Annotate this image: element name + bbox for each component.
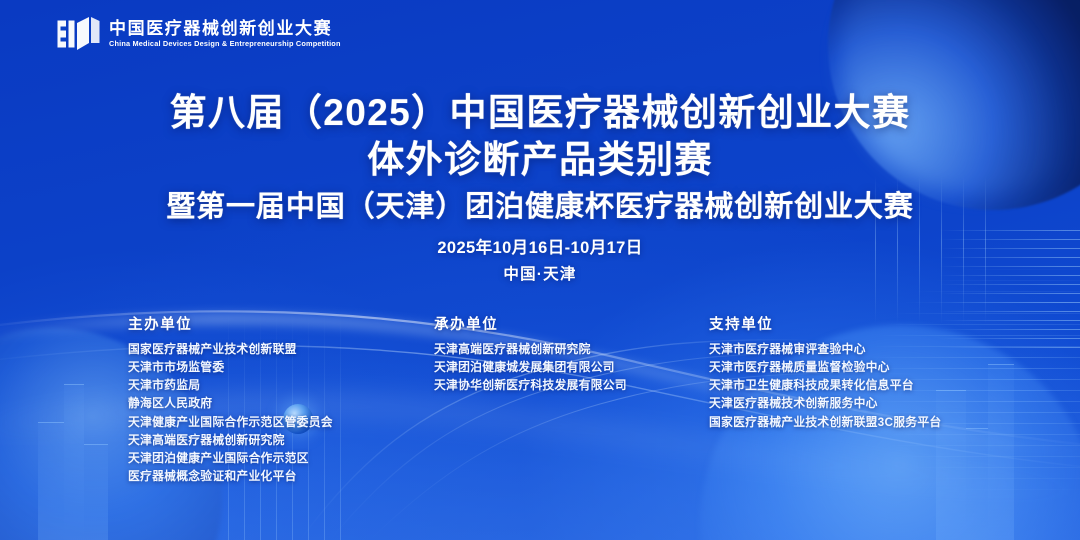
organizer-heading: 承办单位 (434, 316, 627, 335)
organizer-item: 天津团泊健康城发展集团有限公司 (434, 358, 627, 376)
organizer-item: 医疗器械概念验证和产业化平台 (128, 467, 333, 485)
organizer-item: 国家医疗器械产业技术创新联盟3C服务平台 (709, 413, 941, 431)
organizer-item: 天津市医疗器械审评查验中心 (709, 340, 941, 358)
organizer-item: 天津市药监局 (128, 376, 333, 394)
organizer-heading: 支持单位 (709, 316, 941, 335)
organizer-item: 静海区人民政府 (128, 394, 333, 412)
organizer-item: 天津市卫生健康科技成果转化信息平台 (709, 376, 941, 394)
title-line-category: 体外诊断产品类别赛 (0, 136, 1080, 183)
organizer-heading: 主办单位 (128, 316, 333, 335)
organizer-item: 天津高端医疗器械创新研究院 (128, 431, 333, 449)
open-book-logo-icon (56, 13, 100, 55)
organizer-item: 天津医疗器械技术创新服务中心 (709, 394, 941, 412)
organizer-item: 天津团泊健康产业国际合作示范区 (128, 449, 333, 467)
organizer-column-supporter: 支持单位 天津市医疗器械审评查验中心 天津市医疗器械质量监督检验中心 天津市卫生… (709, 316, 941, 431)
event-date: 2025年10月16日-10月17日 (0, 236, 1080, 261)
organizer-item: 天津协华创新医疗科技发展有限公司 (434, 376, 627, 394)
organizer-column-host: 主办单位 国家医疗器械产业技术创新联盟 天津市市场监管委 天津市药监局 静海区人… (128, 316, 333, 485)
logo-title-chinese: 中国医疗器械创新创业大赛 (109, 20, 336, 38)
organizer-column-undertaker: 承办单位 天津高端医疗器械创新研究院 天津团泊健康城发展集团有限公司 天津协华创… (434, 316, 627, 394)
organizers-section: 主办单位 国家医疗器械产业技术创新联盟 天津市市场监管委 天津市药监局 静海区人… (0, 316, 1080, 506)
main-title-block: 第八届（2025）中国医疗器械创新创业大赛 体外诊断产品类别赛 暨第一届中国（天… (0, 89, 1080, 228)
organizer-item: 天津市市场监管委 (128, 358, 333, 376)
title-line-primary: 第八届（2025）中国医疗器械创新创业大赛 (0, 89, 1080, 136)
event-meta-block: 2025年10月16日-10月17日 中国·天津 (0, 236, 1080, 286)
title-line-subtitle: 暨第一届中国（天津）团泊健康杯医疗器械创新创业大赛 (0, 186, 1080, 228)
logo-text-block: 中国医疗器械创新创业大赛 China Medical Devices Desig… (109, 20, 336, 48)
logo-title-english: China Medical Devices Design & Entrepren… (109, 40, 341, 48)
competition-logo[interactable]: 中国医疗器械创新创业大赛 China Medical Devices Desig… (56, 13, 336, 55)
organizer-item: 国家医疗器械产业技术创新联盟 (128, 340, 333, 358)
event-location: 中国·天津 (0, 263, 1080, 286)
organizer-item: 天津高端医疗器械创新研究院 (434, 340, 627, 358)
conference-banner: 中国医疗器械创新创业大赛 China Medical Devices Desig… (0, 0, 1080, 540)
organizer-item: 天津健康产业国际合作示范区管委员会 (128, 413, 333, 431)
organizer-item: 天津市医疗器械质量监督检验中心 (709, 358, 941, 376)
